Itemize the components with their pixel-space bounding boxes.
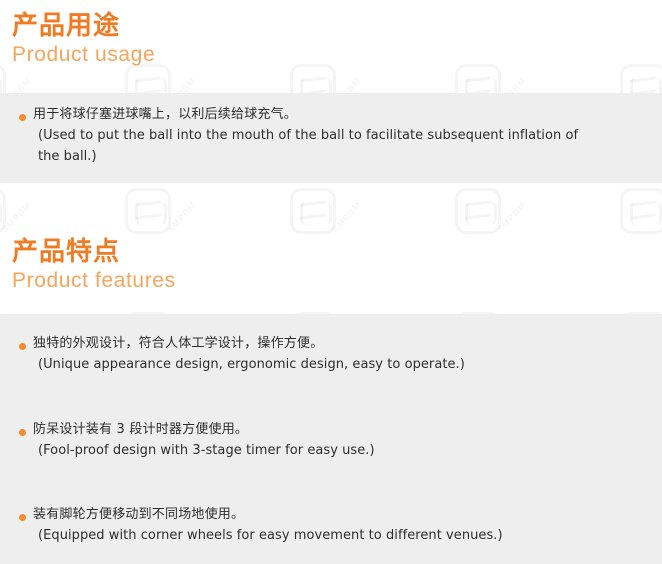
product-features-content-band: 独特的外观设计，符合人体工学设计，操作方便。 (Unique appearanc… <box>0 314 662 564</box>
bullet-dot-icon <box>19 429 26 436</box>
list-item-text-en: (Unique appearance design, ergonomic des… <box>33 354 593 375</box>
s-logo-watermark-icon: XMPBM <box>455 0 539 24</box>
list-item: 防呆设计装有 3 段计时器方便使用。 (Fool-proof design wi… <box>0 420 640 461</box>
bullet-dot-icon <box>19 343 26 350</box>
bullet-dot-icon <box>19 514 26 521</box>
watermark-s-glyph-icon <box>630 202 662 225</box>
product-info-page: 产品用途 Product usage 用于将球仔塞进球嘴上，以利后续给球充气。 … <box>0 0 662 564</box>
page-title-en: Product usage <box>12 42 155 68</box>
s-logo-watermark-icon: XMPBM <box>620 188 662 272</box>
watermark-logo-icon <box>125 188 171 234</box>
product-usage-heading-block: 产品用途 Product usage <box>6 11 155 68</box>
watermark-text: XMPBM <box>330 199 363 234</box>
watermark-text: XMPBM <box>165 199 198 234</box>
list-item-text-cn: 独特的外观设计，符合人体工学设计，操作方便。 <box>33 334 640 354</box>
watermark-s-glyph-icon <box>0 202 2 225</box>
list-item-text-en: (Fool-proof design with 3-stage timer fo… <box>33 440 593 461</box>
watermark-logo-icon <box>290 188 336 234</box>
product-features-heading-block: 产品特点 Product features <box>6 237 176 294</box>
list-item: 独特的外观设计，符合人体工学设计，操作方便。 (Unique appearanc… <box>0 334 640 375</box>
bullet-dot-icon <box>19 114 26 121</box>
watermark-s-glyph-icon <box>300 202 332 225</box>
product-usage-content-band: 用于将球仔塞进球嘴上，以利后续给球充气。 (Used to put the ba… <box>0 93 662 183</box>
list-item: 装有脚轮方便移动到不同场地使用。 (Equipped with corner w… <box>0 505 640 546</box>
list-item-text-cn: 用于将球仔塞进球嘴上，以利后续给球充气。 <box>33 105 640 125</box>
watermark-s-glyph-icon <box>135 202 167 225</box>
watermark-logo-icon <box>620 188 662 234</box>
s-logo-watermark-icon: XMPBM <box>620 0 662 24</box>
section-title-en: Product features <box>12 268 176 294</box>
watermark-logo-icon <box>0 188 6 234</box>
list-item-text-en: (Equipped with corner wheels for easy mo… <box>33 525 593 546</box>
watermark-s-glyph-icon <box>465 202 497 225</box>
list-item-text-en: (Used to put the ball into the mouth of … <box>33 125 593 167</box>
watermark-text: XMPBM <box>0 199 33 234</box>
list-item-text-cn: 防呆设计装有 3 段计时器方便使用。 <box>33 420 640 440</box>
s-logo-watermark-icon: XMPBM <box>455 188 539 272</box>
section-title-cn: 产品特点 <box>12 237 176 268</box>
list-item-text-cn: 装有脚轮方便移动到不同场地使用。 <box>33 505 640 525</box>
watermark-logo-icon <box>455 188 501 234</box>
page-title-cn: 产品用途 <box>12 11 155 42</box>
list-item: 用于将球仔塞进球嘴上，以利后续给球充气。 (Used to put the ba… <box>0 105 640 167</box>
s-logo-watermark-icon: XMPBM <box>290 0 374 24</box>
s-logo-watermark-icon: XMPBM <box>290 188 374 272</box>
watermark-text: XMPBM <box>495 199 528 234</box>
